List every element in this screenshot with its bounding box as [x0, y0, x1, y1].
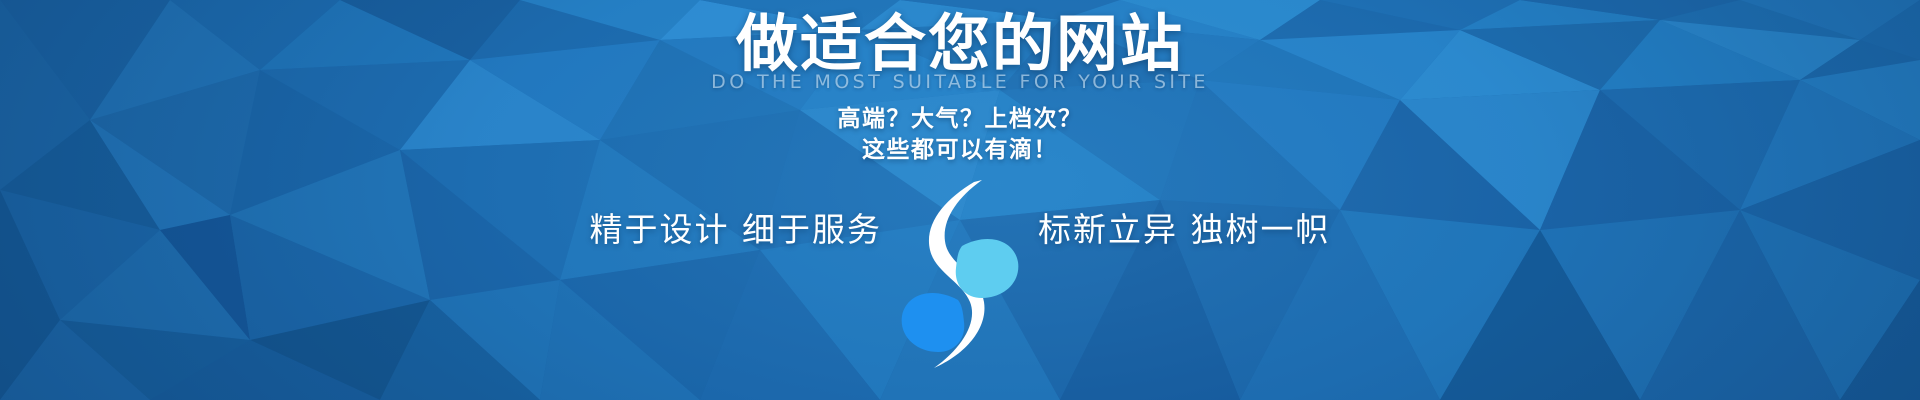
logo-leaf-top [956, 239, 1019, 298]
hero-banner: 做适合您的网站 DO THE MOST SUITABLE FOR YOUR SI… [0, 0, 1920, 400]
stylized-s-leaf-logo-icon [900, 176, 1020, 376]
tagline-left: 精于设计 细于服务 [552, 176, 882, 252]
slogan-line-1: 高端？大气？上档次？ [0, 104, 1920, 135]
tagline-right: 标新立异 独树一帜 [1038, 176, 1368, 252]
slogan-line-2: 这些都可以有滴！ [0, 135, 1920, 166]
slogan-block: 高端？大气？上档次？ 这些都可以有滴！ [0, 104, 1920, 166]
logo-leaf-bottom [902, 293, 965, 352]
page-subtitle-english: DO THE MOST SUITABLE FOR YOUR SITE [0, 70, 1920, 94]
tagline-row: 精于设计 细于服务 标新立异 独树一帜 [0, 176, 1920, 400]
